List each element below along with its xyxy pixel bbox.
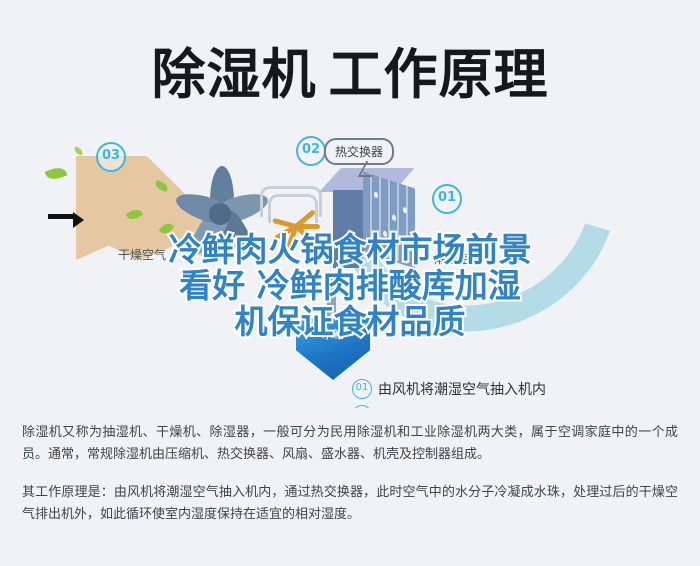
heat-exchanger-fin [388, 180, 390, 259]
infographic-page: 除湿机工作原理 [0, 0, 700, 566]
working-principle-diagram: 水箱 03 02 01 热交换器 干燥空气 潮湿空气 01 由风机将潮湿空气抽入… [0, 128, 700, 408]
fan-hub [209, 203, 231, 225]
dry-air-label: 干燥空气 [118, 246, 166, 263]
legend-label: 由风机将潮湿空气抽入机内 [378, 379, 546, 399]
diagram-marker-03: 03 [96, 142, 126, 172]
condensation-droplet [374, 191, 378, 198]
humid-air-label: 潮湿空气 [434, 250, 482, 267]
airflow-arrow-icon [48, 214, 74, 219]
condensation-droplet [383, 230, 387, 237]
page-title: 除湿机工作原理 [0, 30, 700, 109]
body-paragraph-1: 除湿机又称为抽湿机、干燥机、除湿器，一般可分为民用除湿机和工业除湿机两大类，属于… [22, 422, 678, 466]
condensation-droplet [409, 244, 413, 251]
leaf-icon [73, 146, 84, 155]
compressor-coil-illustration [258, 186, 332, 248]
heat-exchanger-illustration [330, 168, 426, 278]
heat-exchanger-front [333, 190, 363, 268]
leaf-icon [45, 165, 68, 182]
diagram-marker-02: 02 [296, 136, 326, 166]
heat-exchanger-fin [406, 186, 408, 265]
legend-item: 01 由风机将潮湿空气抽入机内 [352, 376, 700, 402]
article-body: 除湿机又称为抽湿机、干燥机、除湿器，一般可分为民用除湿机和工业除湿机两大类，属于… [0, 408, 700, 566]
title-banner: 除湿机工作原理 [0, 0, 700, 128]
diagram-marker-01: 01 [432, 184, 462, 214]
legend-number: 01 [352, 379, 372, 399]
heat-exchanger-fin [370, 174, 372, 253]
condensation-droplet [392, 214, 396, 221]
drain-tube [327, 278, 336, 322]
heat-exchanger-side [363, 172, 415, 269]
heat-exchanger-callout: 热交换器 [324, 138, 394, 165]
title-part-1: 除湿机 [152, 43, 317, 106]
body-paragraph-2: 其工作原理是：由风机将潮湿空气抽入机内，通过热交换器，此时空气中的水分子冷凝成水… [22, 482, 678, 526]
coil-burst [270, 210, 326, 244]
heat-exchanger-fin [397, 183, 399, 262]
title-part-2: 工作原理 [329, 43, 549, 106]
heat-exchanger-fin [379, 177, 381, 256]
diagram-legend: 01 由风机将潮湿空气抽入机内 02 蒸发器冷凝成水珠 03 从上部出风口吹出清… [352, 376, 700, 408]
water-tank-label: 水箱 [296, 326, 370, 342]
fan-illustration [168, 162, 272, 266]
